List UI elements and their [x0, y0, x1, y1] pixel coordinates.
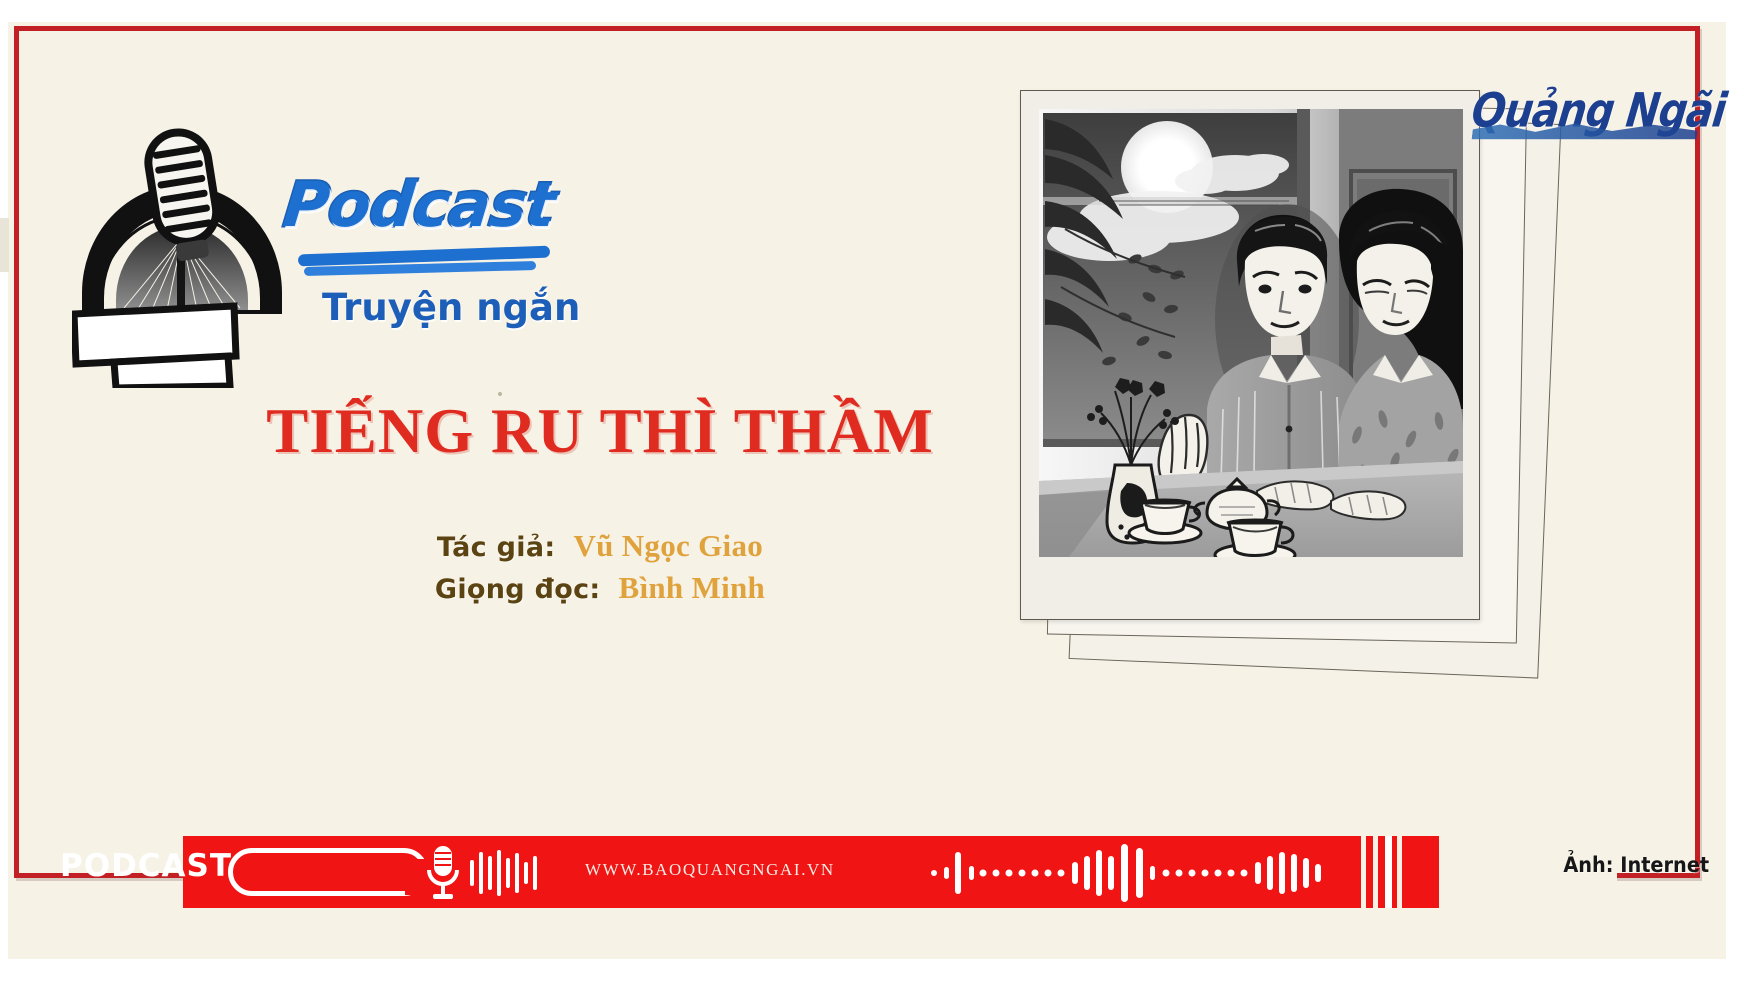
credit-row-author: Tác giả: Vũ Ngọc Giao	[150, 528, 1050, 564]
bar-notch-3	[1385, 836, 1392, 908]
bar-notch-1	[1361, 836, 1366, 908]
bar-notch-4	[1397, 836, 1402, 908]
bottom-podcast-label: PODCAST	[60, 848, 232, 884]
podcast-subtitle: Truyện ngắn	[322, 286, 580, 329]
credits-block: Tác giả: Vũ Ngọc Giao Giọng đọc: Bình Mi…	[150, 528, 1050, 612]
artwork-illustration	[1039, 109, 1463, 557]
brand-logo-quang-ngai: Quảng Ngãi	[1469, 84, 1729, 138]
gutter-left	[0, 0, 8, 981]
gutter-top	[0, 0, 1744, 22]
audio-waveform-icon	[468, 850, 543, 901]
edge-artifact	[0, 218, 9, 272]
credit-label-author: Tác giả:	[437, 532, 556, 563]
bar-notch-2	[1373, 836, 1378, 908]
website-url: WWW.BAOQUANGNGAI.VN	[585, 860, 835, 880]
artwork-polaroid-stack	[1020, 90, 1580, 670]
gutter-bottom	[0, 959, 1744, 981]
page-title: TIẾNG RU THÌ THẦM	[150, 395, 1050, 468]
credit-value-narrator: Bình Minh	[619, 570, 766, 606]
photo-credit: Ảnh: Internet	[1563, 853, 1709, 877]
microphone-icon	[72, 118, 292, 388]
polaroid-card-front	[1020, 90, 1480, 620]
podcast-word-text: Podcast	[280, 168, 558, 241]
credit-row-narrator: Giọng đọc: Bình Minh	[150, 570, 1050, 606]
podcast-logo: Podcast Truyện ngắn	[72, 118, 572, 388]
podcast-wordmark: Podcast Truyện ngắn	[284, 168, 584, 368]
gutter-right	[1726, 0, 1744, 981]
credit-label-narrator: Giọng đọc:	[435, 574, 601, 605]
audio-waveform-progress-icon	[928, 842, 1428, 909]
credit-value-author: Vũ Ngọc Giao	[573, 528, 763, 564]
podcast-pill-outline	[228, 848, 428, 896]
slide-canvas: Podcast Truyện ngắn TIẾNG RU THÌ THẦM Tá…	[0, 0, 1744, 981]
bottom-player-bar	[183, 836, 1538, 908]
microphone-icon	[423, 844, 463, 902]
